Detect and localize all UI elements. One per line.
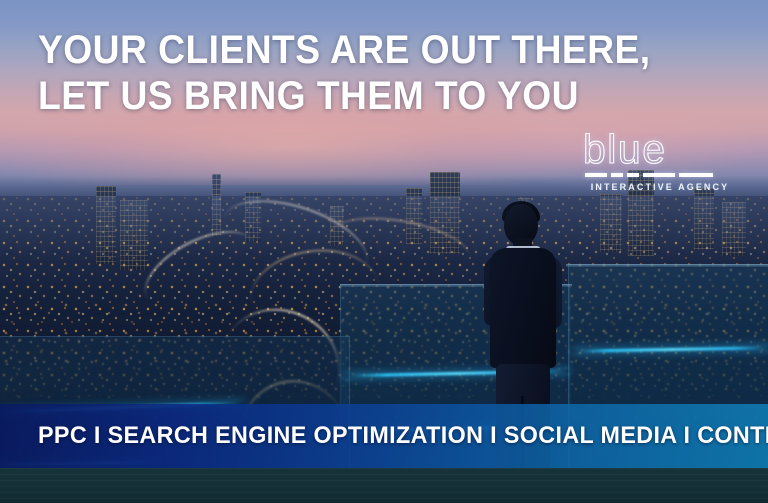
logo-tagline: INTERACTIVE AGENCY xyxy=(586,182,734,192)
suit-jacket xyxy=(490,248,556,368)
logo-wordmark: blue xyxy=(583,128,735,170)
advertisement-banner: YOUR CLIENTS ARE OUT THERE, LET US BRING… xyxy=(0,0,768,503)
headline-line-2: LET US BRING THEM TO YOU xyxy=(38,73,633,119)
headline-line-1: YOUR CLIENTS ARE OUT THERE, xyxy=(38,27,633,73)
brand-logo[interactable]: blue INTERACTIVE AGENCY xyxy=(583,128,735,196)
railing-cap xyxy=(566,264,768,267)
services-banner-text: PPC I SEARCH ENGINE OPTIMIZATION I SOCIA… xyxy=(38,422,768,450)
headline: YOUR CLIENTS ARE OUT THERE, LET US BRING… xyxy=(38,27,633,119)
observation-deck-floor xyxy=(0,468,768,503)
services-banner: PPC I SEARCH ENGINE OPTIMIZATION I SOCIA… xyxy=(0,404,768,468)
logo-underline-bars xyxy=(585,173,733,178)
